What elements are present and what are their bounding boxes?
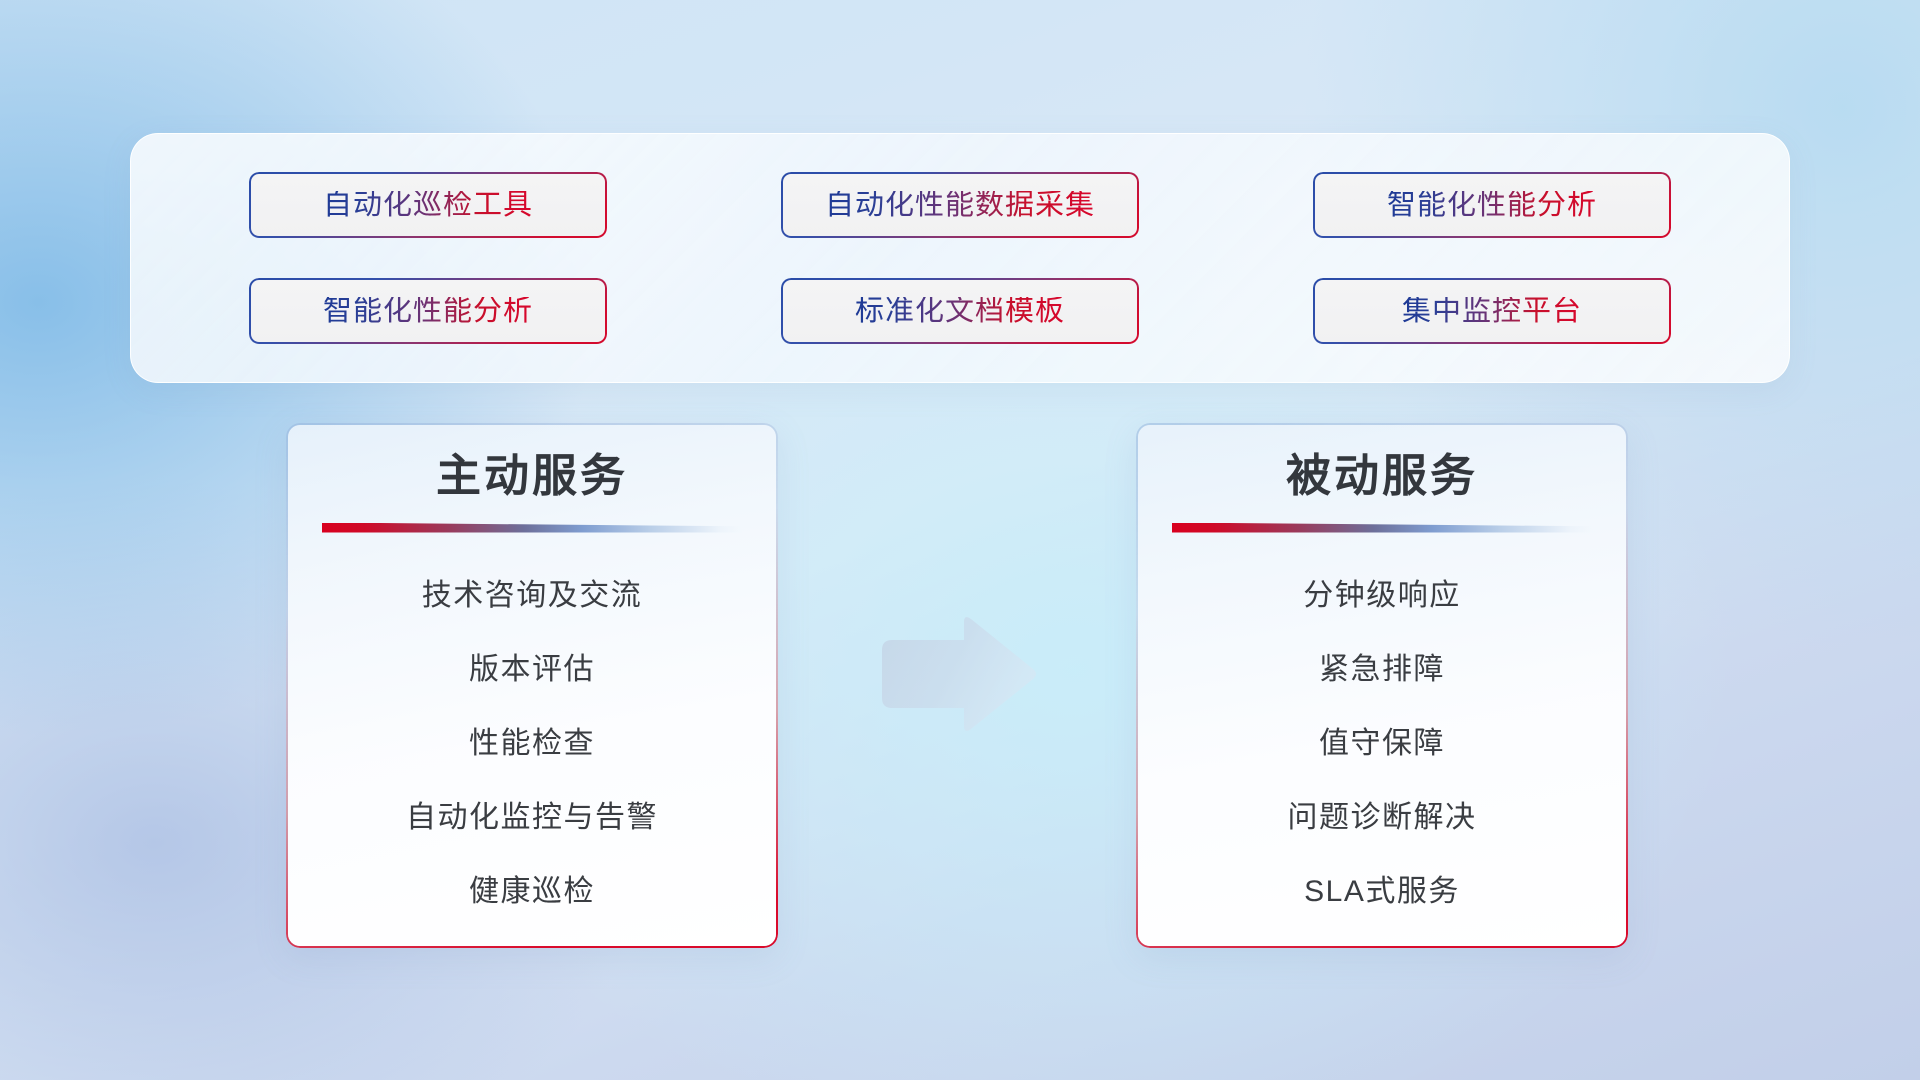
list-item[interactable]: 健康巡检 [469, 855, 595, 929]
list-item[interactable]: 技术咨询及交流 [422, 559, 643, 633]
service-card-passive: 被动服务 分钟级响应 紧急排障 值守保障 问题诊断解决 SLA式服务 [1136, 423, 1628, 948]
pill-label: 标准化文档模板 [855, 297, 1065, 326]
capabilities-panel: 自动化巡检工具 自动化性能数据采集 智能化性能分析 智能化性能分析 标准化文档模… [130, 133, 1790, 383]
service-card-active: 主动服务 技术咨询及交流 版本评估 性能检查 自动化监控与告警 健康巡检 [286, 423, 778, 948]
pill-label: 自动化巡检工具 [323, 191, 533, 220]
pill-standardized-doc-template[interactable]: 标准化文档模板 [781, 278, 1139, 344]
title-divider [322, 523, 742, 533]
list-item[interactable]: SLA式服务 [1304, 855, 1460, 929]
pill-label: 智能化性能分析 [323, 297, 533, 326]
pill-automated-inspection-tool[interactable]: 自动化巡检工具 [249, 172, 607, 238]
service-card-title: 被动服务 [1286, 451, 1478, 501]
service-item-list: 技术咨询及交流 版本评估 性能检查 自动化监控与告警 健康巡检 [288, 559, 776, 929]
pill-label: 自动化性能数据采集 [825, 191, 1095, 220]
flow-arrow-right-icon [874, 616, 1040, 734]
list-item[interactable]: 版本评估 [469, 633, 595, 707]
service-card-body: 被动服务 分钟级响应 紧急排障 值守保障 问题诊断解决 SLA式服务 [1138, 425, 1626, 946]
pill-intelligent-perf-analysis-top[interactable]: 智能化性能分析 [1313, 172, 1671, 238]
pill-centralized-monitoring-platform[interactable]: 集中监控平台 [1313, 278, 1671, 344]
service-card-title: 主动服务 [436, 451, 628, 501]
service-card-body: 主动服务 技术咨询及交流 版本评估 性能检查 自动化监控与告警 健康巡检 [288, 425, 776, 946]
list-item[interactable]: 自动化监控与告警 [406, 781, 658, 855]
pill-automated-perf-data-collection[interactable]: 自动化性能数据采集 [781, 172, 1139, 238]
pill-intelligent-perf-analysis-bottom[interactable]: 智能化性能分析 [249, 278, 607, 344]
pill-label: 智能化性能分析 [1387, 191, 1597, 220]
list-item[interactable]: 问题诊断解决 [1288, 781, 1477, 855]
service-item-list: 分钟级响应 紧急排障 值守保障 问题诊断解决 SLA式服务 [1138, 559, 1626, 929]
slide-canvas: 自动化巡检工具 自动化性能数据采集 智能化性能分析 智能化性能分析 标准化文档模… [0, 0, 1920, 1080]
list-item[interactable]: 分钟级响应 [1303, 559, 1461, 633]
list-item[interactable]: 值守保障 [1319, 707, 1445, 781]
pill-label: 集中监控平台 [1402, 297, 1582, 326]
title-divider [1172, 523, 1592, 533]
list-item[interactable]: 性能检查 [469, 707, 595, 781]
list-item[interactable]: 紧急排障 [1319, 633, 1445, 707]
